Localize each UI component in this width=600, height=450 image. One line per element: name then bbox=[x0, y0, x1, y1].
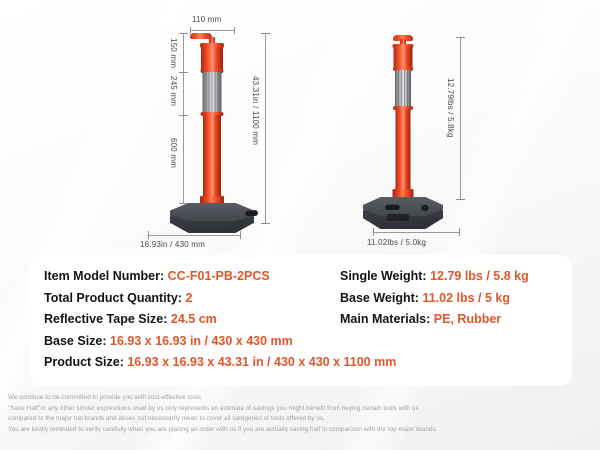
dim-label-post-weight: 12.79lbs / 5.8kg bbox=[446, 78, 455, 138]
disclaimer-line-2: "Save Half"or any other similar expressi… bbox=[8, 404, 596, 415]
dim-tick-top-left bbox=[190, 27, 191, 34]
product-illustration-stage: 110 mm 150 mm 245 mm 600 mm 43.31in / 11… bbox=[0, 0, 600, 252]
dim-tick-seg-a bbox=[179, 33, 188, 34]
spec-value-base-size: 16.93 x 16.93 in / 430 x 430 mm bbox=[110, 334, 293, 348]
post-lower-tube bbox=[203, 115, 221, 200]
right-base-handle-slot-icon bbox=[385, 204, 400, 210]
right-base-round-hole-icon bbox=[421, 204, 429, 211]
right-post-reflective-band bbox=[395, 70, 411, 108]
dim-tick-base-right bbox=[240, 231, 241, 239]
dim-tick-seg-d bbox=[179, 203, 188, 204]
disclaimer-line-4: You are kindly reminded to verify carefu… bbox=[8, 425, 596, 436]
spec-value-main-materials: PE, Rubber bbox=[434, 312, 501, 326]
spec-key-total-product-quantity: Total Product Quantity: bbox=[44, 291, 182, 305]
spec-key-base-weight: Base Weight: bbox=[340, 291, 419, 305]
dim-tick-total-top bbox=[261, 33, 270, 34]
dim-label-top-width: 110 mm bbox=[192, 15, 222, 24]
disclaimer-text: We continue to be committed to provide y… bbox=[8, 393, 596, 435]
spec-value-item-model-number: CC-F01-PB-2PCS bbox=[168, 269, 270, 283]
dim-tick-base-weight-left bbox=[373, 228, 374, 236]
spec-row-base-weight: Base Weight: 11.02 lbs / 5 kg bbox=[340, 288, 529, 310]
dim-tick-base-weight-right bbox=[459, 228, 460, 236]
dim-tick-seg-c bbox=[179, 115, 188, 116]
spec-value-base-weight: 11.02 lbs / 5 kg bbox=[422, 291, 510, 305]
spec-value-reflective-tape-size: 24.5 cm bbox=[171, 312, 217, 326]
spec-value-single-weight: 12.79 lbs / 5.8 kg bbox=[430, 269, 529, 283]
spec-row-single-weight: Single Weight: 12.79 lbs / 5.8 kg bbox=[340, 266, 529, 288]
dim-line-base-width bbox=[148, 235, 240, 236]
right-post-upper-tube bbox=[394, 47, 413, 69]
dim-tick-post-weight-bottom bbox=[456, 199, 465, 200]
specification-card: Item Model Number: CC-F01-PB-2PCS Total … bbox=[30, 255, 572, 386]
post-upper-tube bbox=[201, 47, 223, 71]
dim-tick-seg-b bbox=[179, 72, 188, 73]
dim-label-total-height: 43.31in / 1100 mm bbox=[251, 76, 260, 145]
spec-row-main-materials: Main Materials: PE, Rubber bbox=[340, 309, 529, 331]
dim-label-reflective-section: 245 mm bbox=[169, 76, 178, 106]
dim-line-top-width bbox=[190, 30, 234, 31]
right-post-lower-tube bbox=[396, 109, 411, 193]
spec-row-base-size: Base Size: 16.93 x 16.93 in / 430 x 430 … bbox=[44, 331, 396, 353]
dim-label-cap-section: 150 mm bbox=[169, 38, 178, 68]
spec-key-product-size: Product Size: bbox=[44, 355, 124, 369]
dim-line-post-weight bbox=[460, 37, 461, 199]
dim-line-base-weight bbox=[373, 232, 459, 233]
dim-label-base-width: 16.93in / 430 mm bbox=[140, 240, 205, 249]
spec-key-single-weight: Single Weight: bbox=[340, 269, 427, 283]
dim-label-base-weight: 11.02lbs / 5.0kg bbox=[367, 238, 426, 247]
post-base-octagon-top bbox=[170, 203, 254, 221]
dim-line-segments bbox=[183, 33, 184, 203]
dim-tick-base-left bbox=[148, 231, 149, 239]
post-reflective-band bbox=[203, 72, 222, 114]
spec-row-product-size: Product Size: 16.93 x 16.93 x 43.31 in /… bbox=[44, 352, 396, 374]
product-spec-page: 110 mm 150 mm 245 mm 600 mm 43.31in / 11… bbox=[0, 0, 600, 450]
disclaimer-line-3: compared to the major top brands and dos… bbox=[8, 414, 596, 425]
spec-key-item-model-number: Item Model Number: bbox=[44, 269, 164, 283]
base-handle-slot-icon bbox=[245, 210, 258, 216]
dim-tick-top-right bbox=[234, 27, 235, 34]
dim-label-lower-section: 600 mm bbox=[169, 138, 178, 168]
right-base-front-pad bbox=[387, 214, 409, 221]
dim-tick-post-weight-top bbox=[456, 37, 465, 38]
spec-column-right: Single Weight: 12.79 lbs / 5.8 kg Base W… bbox=[340, 266, 529, 331]
dim-tick-total-bottom bbox=[261, 223, 270, 224]
spec-value-product-size: 16.93 x 16.93 x 43.31 in / 430 x 430 x 1… bbox=[127, 355, 396, 369]
spec-value-total-product-quantity: 2 bbox=[185, 291, 192, 305]
dim-line-total-height bbox=[265, 33, 266, 223]
disclaimer-line-1: We continue to be committed to provide y… bbox=[8, 393, 596, 404]
spec-key-main-materials: Main Materials: bbox=[340, 312, 430, 326]
spec-key-base-size: Base Size: bbox=[44, 334, 107, 348]
spec-key-reflective-tape-size: Reflective Tape Size: bbox=[44, 312, 167, 326]
